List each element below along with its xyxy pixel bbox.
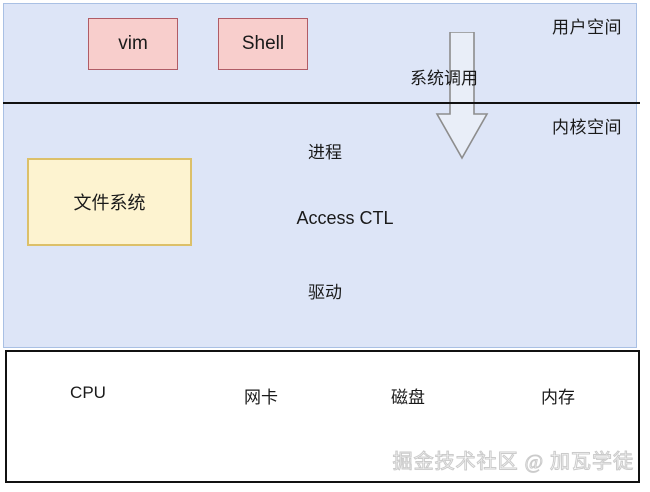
kernel-stack-item-process: 进程 bbox=[255, 138, 395, 163]
filesystem-box[interactable]: 文件系统 bbox=[27, 158, 192, 246]
hardware-item-nic: 网卡 bbox=[216, 383, 306, 408]
hardware-item-memory: 内存 bbox=[513, 383, 603, 408]
app-box-shell[interactable]: Shell bbox=[218, 18, 308, 70]
syscall-label: 系统调用 bbox=[410, 64, 478, 89]
kernel-space-label: 内核空间 bbox=[552, 113, 622, 138]
app-box-vim[interactable]: vim bbox=[88, 18, 178, 70]
hardware-item-cpu: CPU bbox=[43, 383, 133, 403]
filesystem-label: 文件系统 bbox=[74, 189, 146, 215]
user-space-label: 用户空间 bbox=[552, 13, 622, 38]
kernel-stack-item-access-ctl: Access CTL bbox=[255, 208, 435, 229]
app-box-shell-label: Shell bbox=[242, 33, 284, 55]
kernel-stack-item-driver: 驱动 bbox=[255, 278, 395, 303]
user-kernel-divider bbox=[3, 102, 640, 104]
arrow-down-icon bbox=[434, 32, 490, 162]
app-box-vim-label: vim bbox=[118, 33, 148, 55]
hardware-item-disk: 磁盘 bbox=[363, 383, 453, 408]
watermark: 掘金技术社区 @ 加瓦学徒 bbox=[393, 445, 634, 474]
diagram-canvas: vim Shell 系统调用 用户空间 内核空间 文件系统 进程 Access … bbox=[0, 0, 650, 492]
